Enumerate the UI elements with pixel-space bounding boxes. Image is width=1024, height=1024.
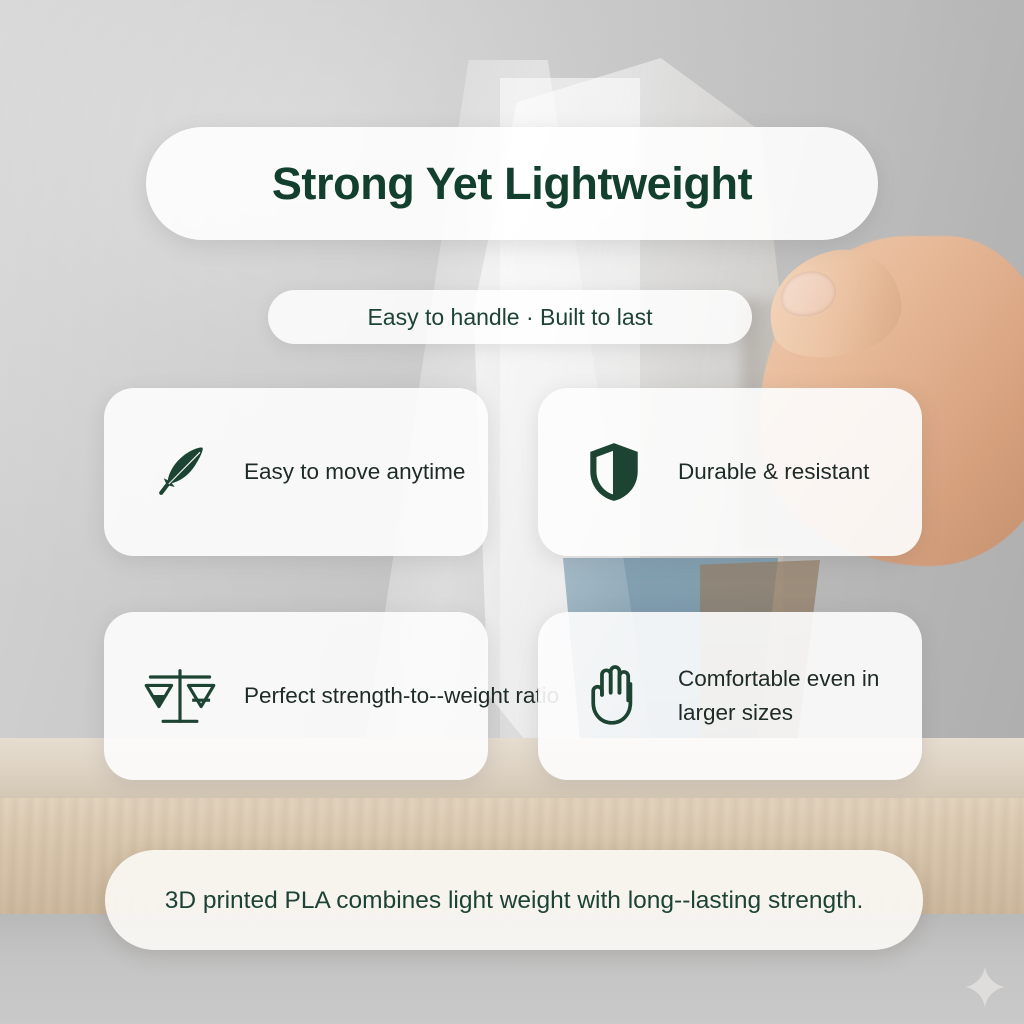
feature-card-durable[interactable]: Durable & resistant xyxy=(538,388,922,556)
footer-pill: 3D printed PLA combines light weight wit… xyxy=(105,850,923,950)
sparkle-icon xyxy=(962,964,1008,1010)
infographic-stage: Strong Yet Lightweight Easy to handle · … xyxy=(0,0,1024,1024)
feather-icon xyxy=(142,434,218,510)
feature-card-easy-to-move[interactable]: Easy to move anytime xyxy=(104,388,488,556)
page-title: Strong Yet Lightweight xyxy=(272,158,752,210)
open-hand-icon xyxy=(576,658,652,734)
shield-icon xyxy=(576,434,652,510)
page-subtitle: Easy to handle · Built to last xyxy=(367,304,652,331)
feature-label: Comfortable even in larger sizes xyxy=(678,662,904,730)
title-pill: Strong Yet Lightweight xyxy=(146,127,878,240)
feature-label: Durable & resistant xyxy=(678,455,869,489)
feature-card-comfortable[interactable]: Comfortable even in larger sizes xyxy=(538,612,922,780)
feature-label: Easy to move anytime xyxy=(244,455,465,489)
footer-text: 3D printed PLA combines light weight wit… xyxy=(165,882,864,919)
feature-card-grid: Easy to move anytime Durable & resistant xyxy=(104,388,922,780)
balance-scale-icon xyxy=(142,658,218,734)
feature-card-strength-ratio[interactable]: Perfect strength-to--weight ratio xyxy=(104,612,488,780)
feature-label: Perfect strength-to--weight ratio xyxy=(244,679,494,713)
subtitle-pill: Easy to handle · Built to last xyxy=(268,290,752,344)
